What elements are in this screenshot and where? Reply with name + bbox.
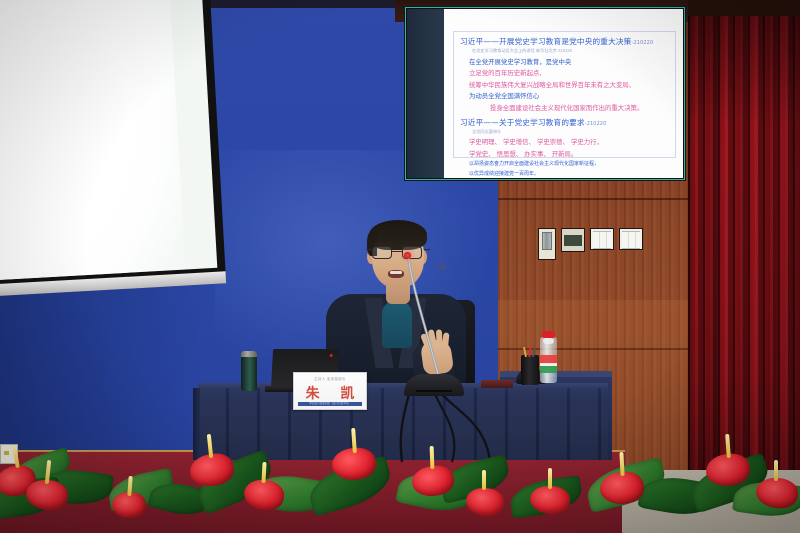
slide-subnote-1: 在党史学习教育动员大会上的讲话 新华社北京 210220 <box>472 48 669 54</box>
wood-seam-upper <box>498 198 700 200</box>
outlet-socket-icon <box>4 451 9 455</box>
bottle-cap <box>542 331 555 338</box>
microphone-base[interactable] <box>404 374 464 396</box>
slide-heading-2: 习近平——关于党史学习教育的要求-210220 <box>460 117 669 128</box>
slide-heading-2-date: -210220 <box>585 121 607 127</box>
slide-block-2: 习近平——关于党史学习教育的要求-210220 全党同志要带头 学史明理、 学史… <box>460 117 669 177</box>
photo-scene: 央的重大决策-210220 世界百年未有之大变局、 化国家而作出的重大决策。 -… <box>0 0 800 533</box>
glasses-lens-left <box>372 246 392 259</box>
blank-plate-2[interactable] <box>619 228 643 250</box>
slide-line-1-0: 在全党开展党史学习教育，是党中央 <box>469 57 669 66</box>
water-bottle[interactable] <box>540 337 557 383</box>
screen-left-shadow <box>407 9 447 178</box>
placard-name: 朱 凯 <box>294 383 366 403</box>
bottle-neck <box>543 338 554 344</box>
name-placard: 主持人 宣传部部长 朱 凯 中共四川省委党校（四川行政学院） <box>293 372 367 410</box>
slide-line-2-1: 学党史、 悟思想、 办实事、 开新局。 <box>469 149 669 158</box>
curtain-shading <box>688 0 800 500</box>
slide-surface: 习近平——开展党史学习教育是党中央的重大决策-210220 在党史学习教育动员大… <box>444 9 683 178</box>
slide-heading-2-text: 习近平——关于党史学习教育的要求 <box>460 118 585 127</box>
microphone-cables <box>198 388 608 463</box>
screen-canvas-left: 央的重大决策-210220 世界百年未有之大变局、 化国家而作出的重大决策。 -… <box>0 0 217 280</box>
plate-lines-icon <box>593 231 611 249</box>
slide-heading-1: 习近平——开展党史学习教育是党中央的重大决策-210220 <box>460 36 669 47</box>
slide-line-1-2: 统筹中华民族伟大复兴战略全局和世界百年未有之大变局、 <box>469 80 669 89</box>
glasses-temple-left <box>366 249 372 250</box>
slide-line-2-0: 学史明理、 学史增信、 学史崇德、 学史力行， <box>469 137 669 146</box>
slide-line-2-3: 以优异成绩迎接建党一百周年。 <box>469 170 669 177</box>
tile-floor <box>622 470 800 533</box>
microphone-led-icon <box>404 252 411 259</box>
placard-top-line: 主持人 宣传部部长 <box>314 376 346 381</box>
slide-line-1-3: 为动员全党全国满怀信心 <box>469 91 669 100</box>
red-carpet <box>0 452 625 533</box>
placard-bottom-line: 中共四川省委党校（四川行政学院） <box>298 402 362 406</box>
pen-holder[interactable] <box>521 355 539 385</box>
slide-line-1-4: 投身全面建设社会主义现代化国家而作出的重大决策。 <box>490 103 669 112</box>
slide-block-1: 习近平——开展党史学习教育是党中央的重大决策-210220 在党史学习教育动员大… <box>460 36 669 112</box>
intercom-panel[interactable] <box>538 228 556 260</box>
wall-outlet[interactable] <box>0 444 18 464</box>
bottle-label <box>540 355 557 373</box>
thermos-flask[interactable] <box>241 351 257 391</box>
mic-base-slot <box>416 390 452 392</box>
intercom-grille-icon <box>542 232 552 250</box>
av-control-panel[interactable] <box>561 228 585 252</box>
slide-heading-1-date: -210220 <box>631 40 653 46</box>
slide-content-box: 习近平——开展党史学习教育是党中央的重大决策-210220 在党史学习教育动员大… <box>453 31 676 158</box>
microphone-gooseneck <box>392 248 452 378</box>
left-projection-screen: 央的重大决策-210220 世界百年未有之大变局、 化国家而作出的重大决策。 -… <box>0 0 226 296</box>
slide-line-1-1: 立足党的百年历史新起点、 <box>469 68 669 77</box>
slide-heading-1-text: 习近平——开展党史学习教育是党中央的重大决策 <box>460 37 631 46</box>
panel-display-icon <box>564 235 582 246</box>
curtain-rod <box>688 0 800 16</box>
right-projection-screen: 习近平——开展党史学习教育是党中央的重大决策-210220 在党史学习教育动员大… <box>404 6 686 181</box>
slide-subnote-2: 全党同志要带头 <box>472 129 669 135</box>
plate-lines-icon-2 <box>622 231 640 249</box>
red-velvet-curtain <box>688 0 800 500</box>
blank-plate-1[interactable] <box>590 228 614 250</box>
laptop-logo-icon <box>330 354 333 357</box>
thermos-cap <box>241 351 257 357</box>
red-notebook[interactable] <box>481 380 513 388</box>
wall-control-panels <box>538 228 643 260</box>
projector-glare <box>0 0 188 280</box>
slide-line-2-2: 以昂扬姿态奋力开启全面建设社会主义现代化国家新征程， <box>469 160 669 167</box>
